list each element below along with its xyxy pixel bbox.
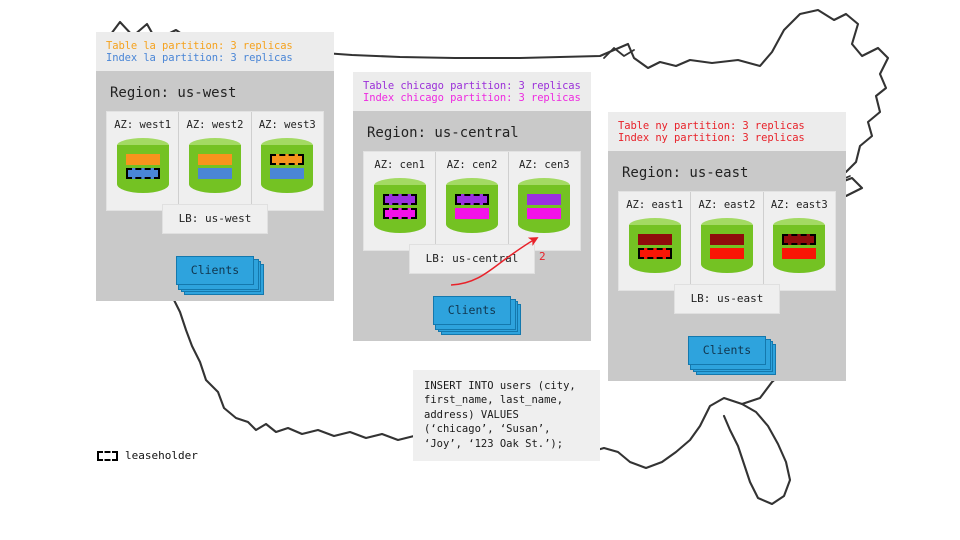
database-node-icon[interactable] [189, 138, 241, 200]
index-partition-line: Index ny partition: 3 replicas [618, 132, 836, 144]
database-node-icon[interactable] [374, 178, 426, 240]
table-partition-line: Table ny partition: 3 replicas [618, 120, 836, 132]
az-cell-east1[interactable]: AZ: east1 [619, 192, 691, 290]
clients-button[interactable]: Clients [433, 296, 511, 325]
database-node-icon[interactable] [773, 218, 825, 280]
index-partition-line: Index chicago partition: 3 replicas [363, 92, 581, 104]
az-label: AZ: cen1 [368, 159, 431, 171]
clients-button[interactable]: Clients [688, 336, 766, 365]
az-cell-cen3[interactable]: AZ: cen3 [509, 152, 580, 250]
database-node-icon[interactable] [446, 178, 498, 240]
table-replica-bar [383, 194, 417, 205]
replica-bars [446, 194, 498, 219]
az-cell-west1[interactable]: AZ: west1 [107, 112, 179, 210]
az-label: AZ: east3 [768, 199, 831, 211]
replica-bars [117, 154, 169, 179]
az-label: AZ: east2 [695, 199, 758, 211]
database-node-icon[interactable] [629, 218, 681, 280]
az-label: AZ: east1 [623, 199, 686, 211]
region-title: Region: us-west [110, 85, 322, 101]
replica-bars [773, 234, 825, 259]
region-panel-us-west: Table la partition: 3 replicas Index la … [96, 32, 334, 301]
clients-stack-us-east[interactable]: Clients [688, 336, 766, 365]
region-title: Region: us-east [622, 165, 834, 181]
az-cell-east3[interactable]: AZ: east3 [764, 192, 835, 290]
load-balancer-us-east[interactable]: LB: us-east [674, 284, 781, 314]
az-cell-cen2[interactable]: AZ: cen2 [436, 152, 508, 250]
replica-bars [374, 194, 426, 219]
database-node-icon[interactable] [261, 138, 313, 200]
table-partition-line: Table la partition: 3 replicas [106, 40, 324, 52]
region-body-us-central: Region: us-central AZ: cen1 AZ: cen2 [353, 111, 591, 341]
table-replica-bar [126, 154, 160, 165]
replica-bars [261, 154, 313, 179]
az-label: AZ: cen2 [440, 159, 503, 171]
region-panel-us-central: Table chicago partition: 3 replicas Inde… [353, 72, 591, 341]
partition-header-us-east: Table ny partition: 3 replicas Index ny … [608, 112, 846, 151]
database-node-icon[interactable] [117, 138, 169, 200]
load-balancer-us-central[interactable]: LB: us-central [409, 244, 536, 274]
index-replica-bar [383, 208, 417, 219]
az-label: AZ: west1 [111, 119, 174, 131]
az-label: AZ: west2 [183, 119, 246, 131]
az-cell-cen1[interactable]: AZ: cen1 [364, 152, 436, 250]
az-row-us-central: AZ: cen1 AZ: cen2 [363, 151, 581, 251]
az-cell-west3[interactable]: AZ: west3 [252, 112, 323, 210]
index-replica-bar [126, 168, 160, 179]
index-replica-bar [527, 208, 561, 219]
region-body-us-west: Region: us-west AZ: west1 AZ: west2 [96, 71, 334, 301]
region-title: Region: us-central [367, 125, 579, 141]
sql-statement-note: INSERT INTO users (city, first_name, las… [413, 370, 600, 461]
index-replica-bar [455, 208, 489, 219]
index-replica-bar [270, 168, 304, 179]
table-replica-bar [527, 194, 561, 205]
index-replica-bar [638, 248, 672, 259]
partition-header-us-west: Table la partition: 3 replicas Index la … [96, 32, 334, 71]
az-cell-east2[interactable]: AZ: east2 [691, 192, 763, 290]
region-panel-us-east: Table ny partition: 3 replicas Index ny … [608, 112, 846, 381]
database-node-icon[interactable] [701, 218, 753, 280]
az-label: AZ: cen3 [513, 159, 576, 171]
az-cell-west2[interactable]: AZ: west2 [179, 112, 251, 210]
table-replica-bar [782, 234, 816, 245]
diagram-canvas: Table la partition: 3 replicas Index la … [0, 0, 960, 540]
table-replica-bar [638, 234, 672, 245]
replica-bars [518, 194, 570, 219]
partition-header-us-central: Table chicago partition: 3 replicas Inde… [353, 72, 591, 111]
az-row-us-east: AZ: east1 AZ: east2 [618, 191, 836, 291]
table-replica-bar [455, 194, 489, 205]
table-replica-bar [710, 234, 744, 245]
database-node-icon[interactable] [518, 178, 570, 240]
az-row-us-west: AZ: west1 AZ: west2 [106, 111, 324, 211]
index-partition-line: Index la partition: 3 replicas [106, 52, 324, 64]
clients-button[interactable]: Clients [176, 256, 254, 285]
index-replica-bar [710, 248, 744, 259]
table-replica-bar [198, 154, 232, 165]
index-replica-bar [782, 248, 816, 259]
replica-bars [629, 234, 681, 259]
step-2-label: 2 [539, 250, 546, 263]
az-label: AZ: west3 [256, 119, 319, 131]
legend: leaseholder [97, 449, 198, 462]
legend-label: leaseholder [125, 449, 198, 462]
index-replica-bar [198, 168, 232, 179]
replica-bars [701, 234, 753, 259]
region-body-us-east: Region: us-east AZ: east1 AZ: east2 [608, 151, 846, 381]
load-balancer-us-west[interactable]: LB: us-west [162, 204, 269, 234]
table-partition-line: Table chicago partition: 3 replicas [363, 80, 581, 92]
clients-stack-us-west[interactable]: Clients [176, 256, 254, 285]
clients-stack-us-central[interactable]: Clients [433, 296, 511, 325]
dashed-rectangle-icon [97, 451, 118, 461]
replica-bars [189, 154, 241, 179]
table-replica-bar [270, 154, 304, 165]
